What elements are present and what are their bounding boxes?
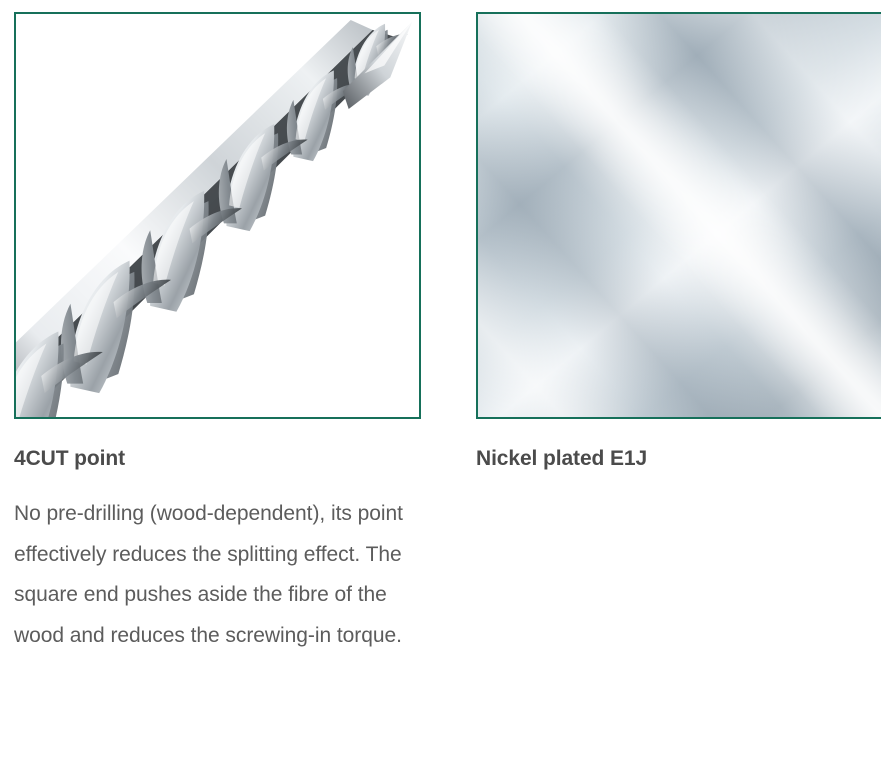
panel-description-4cut-point: No pre-drilling (wood-dependent), its po…: [14, 494, 426, 656]
panel-title-4cut-point: 4CUT point: [14, 446, 125, 472]
nickel-plated-surface: [478, 14, 881, 417]
feature-panels-page: 4CUT point No pre-drilling (wood-depende…: [0, 0, 881, 769]
nickel-plated-image-frame[interactable]: [476, 12, 881, 419]
screw-point-image-frame[interactable]: [14, 12, 421, 419]
nickel-sheen-overlay: [478, 14, 881, 417]
panel-title-nickel-plated-e1j: Nickel plated E1J: [476, 446, 647, 472]
screw-point-photo: [16, 14, 419, 417]
screw-point-illustration: [16, 14, 419, 417]
